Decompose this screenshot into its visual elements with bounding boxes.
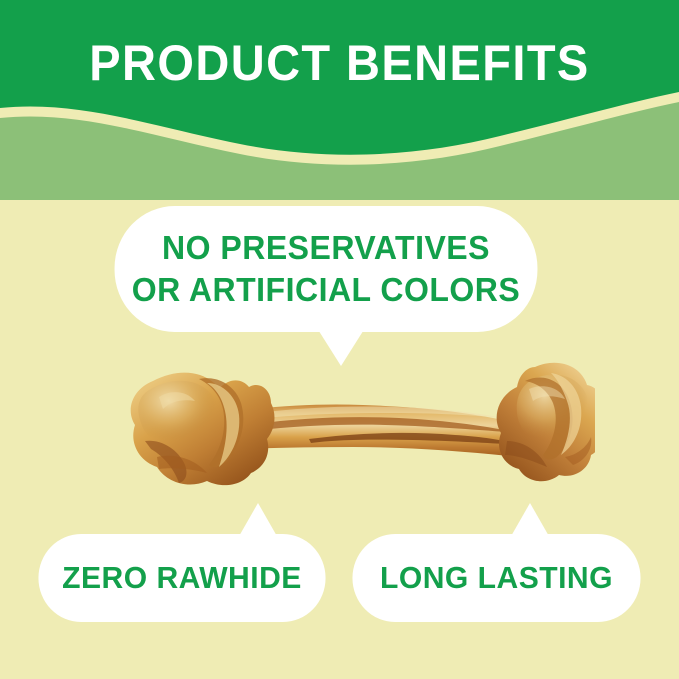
top-bubble-tail [317,328,365,366]
bone-knot-right [497,363,595,482]
benefit-bubble-line-1: NO PRESERVATIVES [162,227,490,269]
header-wave-graphic [0,0,679,200]
product-photo-bone-chew [95,345,595,510]
right-bubble-tail [510,503,550,538]
benefit-bubble-zero-rawhide[interactable]: ZERO RAWHIDE [38,534,325,622]
benefit-bubble-right-label: LONG LASTING [380,560,613,596]
bone-chew-illustration [95,345,595,510]
benefit-bubble-no-preservatives[interactable]: NO PRESERVATIVES OR ARTIFICIAL COLORS [115,206,538,332]
header-banner: PRODUCT BENEFITS [0,0,679,200]
benefit-bubble-left-label: ZERO RAWHIDE [62,560,302,596]
left-bubble-tail [238,503,278,538]
page-title: PRODUCT BENEFITS [20,38,658,88]
bone-knot-left [131,373,275,486]
benefit-bubble-long-lasting[interactable]: LONG LASTING [352,534,640,622]
benefit-bubble-line-2: OR ARTIFICIAL COLORS [132,269,520,311]
product-benefits-infographic: PRODUCT BENEFITS [0,0,679,679]
